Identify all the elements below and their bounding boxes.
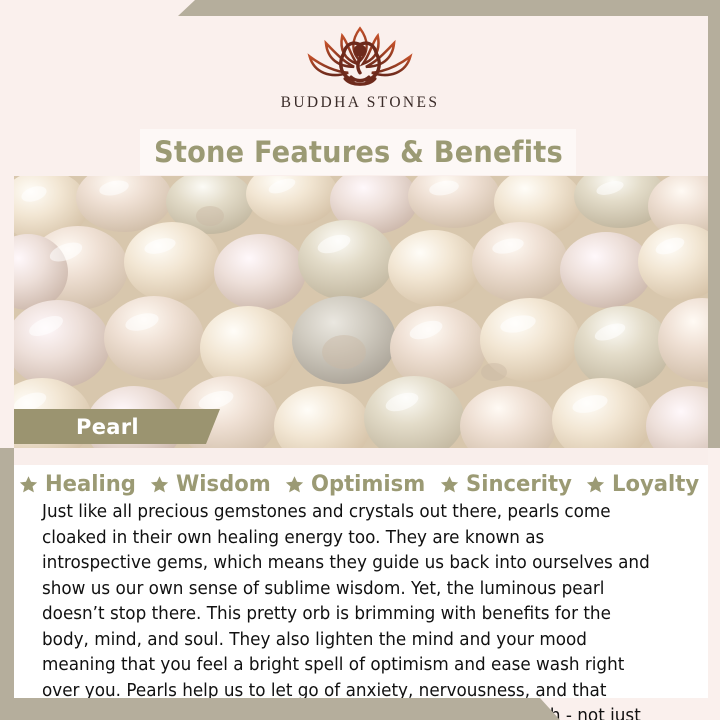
benefit-label: Loyalty	[612, 472, 699, 497]
star-icon	[150, 475, 169, 494]
benefit-item: Wisdom	[150, 472, 275, 497]
star-icon	[19, 475, 38, 494]
title-banner: Stone Features & Benefits	[140, 129, 576, 175]
benefit-item: Healing	[19, 472, 140, 497]
benefits-row: Healing Wisdom Optimism Sincerity	[14, 465, 708, 497]
benefit-label: Sincerity	[466, 472, 572, 497]
benefit-item: Sincerity	[440, 472, 576, 497]
lotus-meditation-icon	[285, 18, 435, 92]
star-icon	[586, 475, 605, 494]
brand-logo: BUDDHA STONES	[0, 18, 720, 128]
stone-name-tag: Pearl	[14, 409, 220, 444]
star-icon	[285, 475, 304, 494]
divider-strip	[14, 448, 708, 465]
benefit-label: Healing	[45, 472, 136, 497]
left-decor-band	[0, 448, 14, 720]
top-decor-band	[0, 0, 720, 16]
benefit-label: Optimism	[311, 472, 425, 497]
content-panel: Healing Wisdom Optimism Sincerity	[14, 465, 708, 698]
stone-name: Pearl	[76, 415, 139, 439]
benefit-item: Optimism	[285, 472, 430, 497]
stone-description: Just like all precious gemstones and cry…	[42, 500, 653, 720]
star-icon	[440, 475, 459, 494]
pearl-photo-art	[14, 176, 708, 448]
infographic-page: BUDDHA STONES Stone Features & Benefits	[0, 0, 720, 720]
page-title: Stone Features & Benefits	[154, 135, 563, 169]
benefit-label: Wisdom	[176, 472, 271, 497]
pearl-photo	[14, 176, 708, 448]
brand-name: BUDDHA STONES	[281, 94, 440, 112]
benefit-item: Loyalty	[586, 472, 703, 497]
